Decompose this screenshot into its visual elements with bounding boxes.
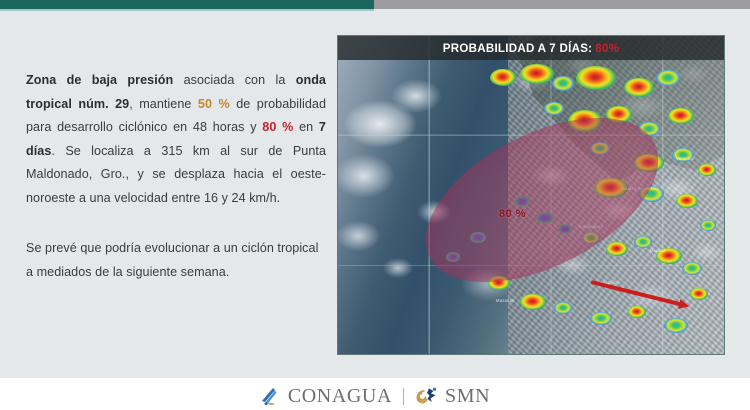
top-bar-gray-segment <box>374 0 750 9</box>
storm-cell <box>700 220 716 231</box>
bulletin-segment-1: asociada con la <box>173 73 295 87</box>
bulletin-segment-3: , mantiene <box>129 97 198 111</box>
storm-cell <box>554 302 572 314</box>
storm-cell <box>552 76 574 91</box>
storm-cell <box>628 306 646 318</box>
storm-cell <box>624 78 654 97</box>
storm-cell <box>544 102 564 115</box>
map-header-label: PROBABILIDAD A 7 DÍAS: <box>443 42 593 55</box>
storm-cell <box>690 288 708 300</box>
bulletin-paragraph-1: Zona de baja presión asociada con la ond… <box>26 69 326 210</box>
storm-cell <box>520 64 554 84</box>
storm-cell <box>682 262 702 275</box>
conagua-brand[interactable]: CONAGUA <box>260 385 392 408</box>
bulletin-segment-9: . Se localiza a 315 km al sur de Punta M… <box>26 144 326 205</box>
footer-divider <box>403 388 404 405</box>
storm-cell <box>590 312 612 325</box>
bulletin-segment-7: en <box>293 120 319 134</box>
storm-cell <box>634 236 652 248</box>
footer-bar: CONAGUA SMN <box>0 378 750 410</box>
storm-cell <box>668 108 694 124</box>
smn-brand[interactable]: SMN <box>415 385 490 408</box>
top-bar-green-segment <box>0 0 374 9</box>
storm-cell <box>698 164 716 176</box>
storm-cell <box>676 194 698 208</box>
map-header-percent: 80% <box>595 42 619 55</box>
smn-logo-icon <box>415 386 439 406</box>
bulletin-segment-6: 80 % <box>262 120 293 134</box>
bulletin-segment-0: Zona de baja presión <box>26 73 173 87</box>
storm-cell <box>576 66 616 90</box>
satellite-map-panel[interactable]: MazatlánGuadalajaraCiudad de MéxicoAcapu… <box>337 35 725 355</box>
storm-cell <box>656 70 680 86</box>
bulletin-text-column: Zona de baja presión asociada con la ond… <box>26 69 326 284</box>
storm-cell <box>664 318 688 333</box>
storm-cell <box>672 148 694 162</box>
map-header-band: PROBABILIDAD A 7 DÍAS: 80% <box>338 36 724 60</box>
storm-cell <box>490 69 516 86</box>
storm-cell <box>606 242 628 256</box>
top-bar <box>0 0 750 9</box>
storm-cell <box>520 294 546 310</box>
storm-cell <box>656 248 682 264</box>
cone-probability-label: 80 % <box>499 208 526 220</box>
conagua-logo-icon <box>260 386 282 406</box>
content-area: Zona de baja presión asociada con la ond… <box>0 11 750 378</box>
smn-label: SMN <box>445 385 490 408</box>
bulletin-paragraph-2: Se prevé que podría evolucionar a un cic… <box>26 237 326 284</box>
conagua-label: CONAGUA <box>288 385 392 408</box>
bulletin-segment-4: 50 % <box>198 97 230 111</box>
